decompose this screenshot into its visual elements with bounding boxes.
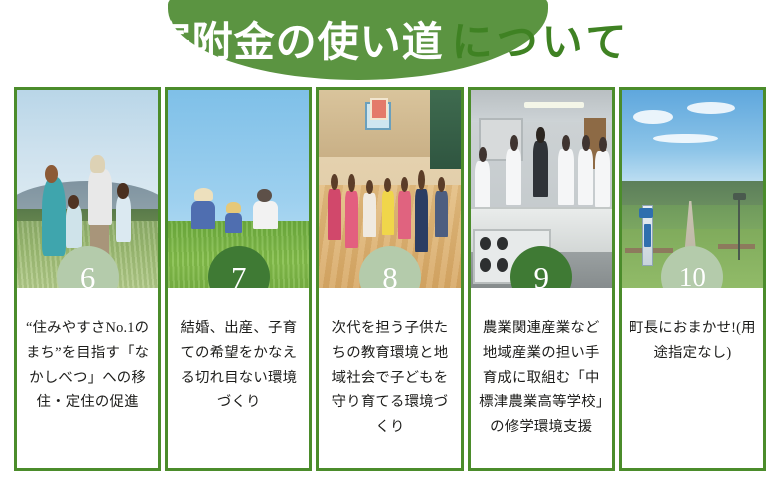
card-description-6: “住みやすさNo.1のまち”を目指す「なかしべつ」への移住・定住の促進 [23, 316, 152, 415]
page-title: 寄附金の使い道 について [0, 0, 780, 84]
donation-purpose-card-6[interactable]: 6 “住みやすさNo.1のまち”を目指す「なかしべつ」への移住・定住の促進 [14, 87, 161, 471]
donation-purpose-card-7[interactable]: 7 結婚、出産、子育ての希望をかなえる切れ目ない環境づくり [165, 87, 312, 471]
card-body-8: 次代を担う子供たちの教育環境と地域社会で子どもを守り育てる環境づくり [319, 288, 460, 468]
card-photo-10: 10 [622, 90, 763, 288]
card-body-10: 町長におまかせ!(用途指定なし) [622, 288, 763, 468]
card-photo-7: 7 [168, 90, 309, 288]
donation-purpose-card-9[interactable]: 9 農業関連産業など地域産業の担い手育成に取組む「中標津農業高等学校」の修学環境… [468, 87, 615, 471]
card-description-8: 次代を担う子供たちの教育環境と地域社会で子どもを守り育てる環境づくり [325, 316, 454, 440]
card-photo-9: 9 [471, 90, 612, 288]
card-body-9: 農業関連産業など地域産業の担い手育成に取組む「中標津農業高等学校」の修学環境支援 [471, 288, 612, 468]
card-body-6: “住みやすさNo.1のまち”を目指す「なかしべつ」への移住・定住の促進 [17, 288, 158, 468]
donation-purpose-card-8[interactable]: 8 次代を担う子供たちの教育環境と地域社会で子どもを守り育てる環境づくり [316, 87, 463, 471]
card-photo-8: 8 [319, 90, 460, 288]
card-body-7: 結婚、出産、子育ての希望をかなえる切れ目ない環境づくり [168, 288, 309, 468]
card-photo-6: 6 [17, 90, 158, 288]
page-title-highlight: 寄附金の使い道 [150, 22, 444, 63]
donation-purpose-card-10[interactable]: 10 町長におまかせ!(用途指定なし) [619, 87, 766, 471]
page-header: 寄附金の使い道 について [0, 0, 780, 84]
page-title-suffix: について [452, 22, 631, 63]
donation-purpose-card-row: 6 “住みやすさNo.1のまち”を目指す「なかしべつ」への移住・定住の促進 7 … [14, 87, 766, 471]
card-description-9: 農業関連産業など地域産業の担い手育成に取組む「中標津農業高等学校」の修学環境支援 [477, 316, 606, 440]
card-description-10: 町長におまかせ!(用途指定なし) [628, 316, 757, 366]
card-description-7: 結婚、出産、子育ての希望をかなえる切れ目ない環境づくり [174, 316, 303, 415]
